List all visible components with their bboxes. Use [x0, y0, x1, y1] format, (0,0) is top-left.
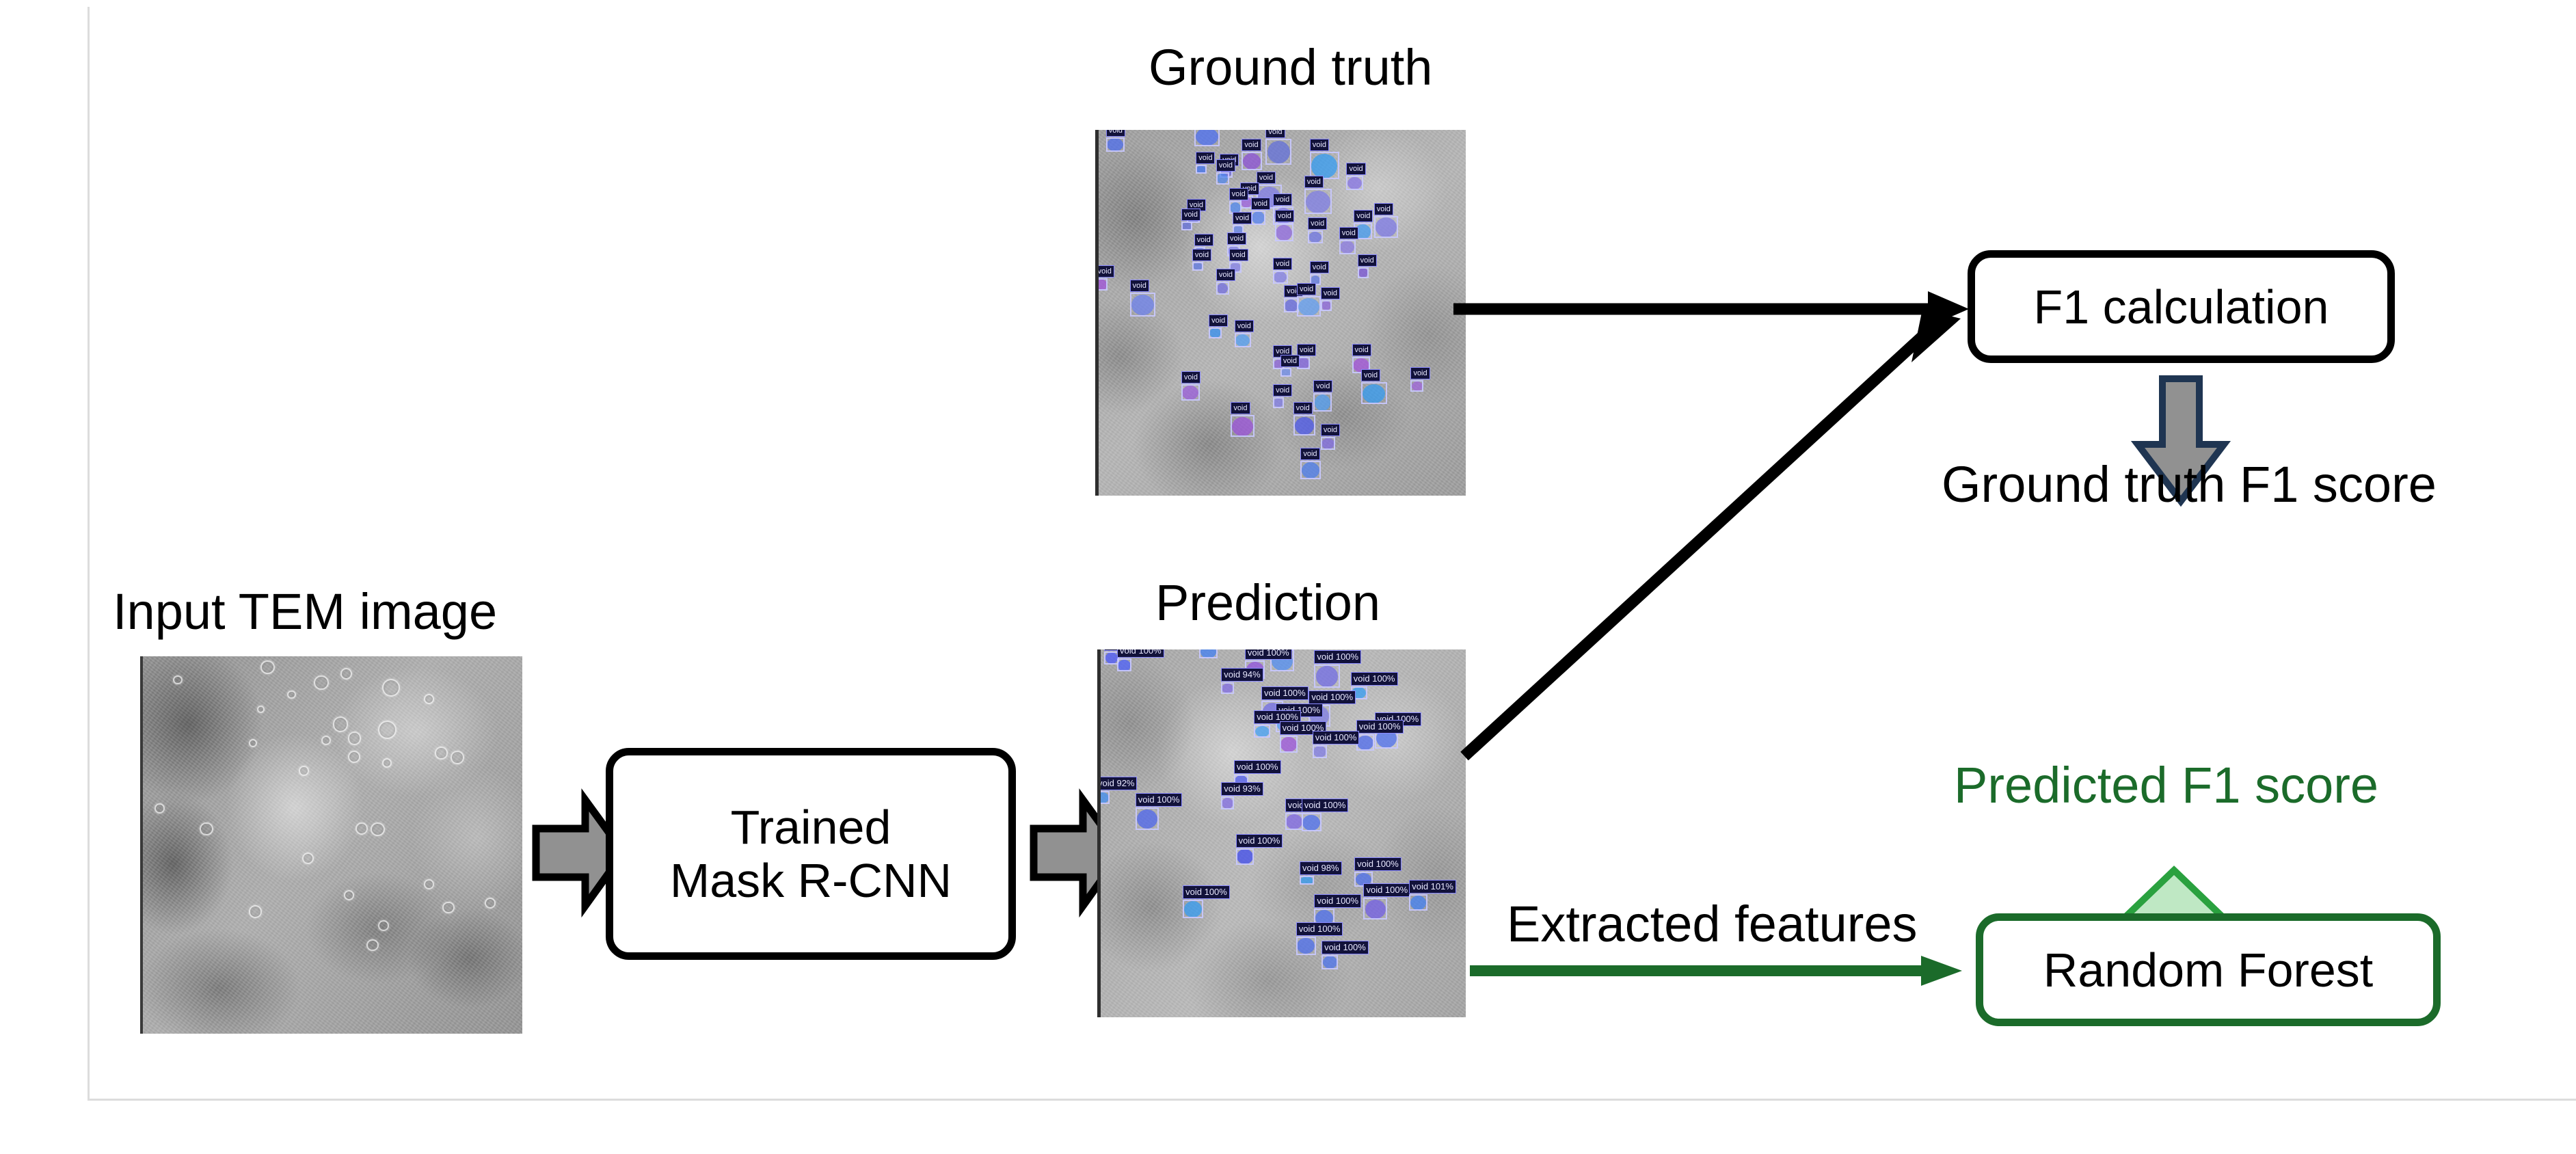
detection-label: void — [1130, 280, 1149, 292]
detection-box: void — [1192, 262, 1203, 271]
detection-label: void 100% — [1136, 793, 1183, 807]
detection-box: void 100% — [1236, 848, 1255, 865]
ground-truth-f1-score-label: Ground truth F1 score — [1942, 459, 2437, 510]
detection-box: void 100% — [1285, 813, 1304, 829]
detection-label: void — [1235, 320, 1254, 332]
input-tem-image-label: Input TEM image — [113, 587, 497, 637]
detection-label: void — [1227, 232, 1246, 245]
detection-bbox — [1235, 333, 1251, 347]
detection-label: void 98% — [1300, 861, 1341, 875]
tem-void-ring — [249, 739, 257, 747]
detection-bbox — [1265, 139, 1291, 164]
detection-label: void — [1229, 249, 1248, 261]
detection-bbox — [1117, 658, 1131, 671]
detection-box: void — [1358, 267, 1369, 278]
detection-bbox — [1346, 176, 1363, 190]
tem-void-ring — [442, 902, 454, 913]
detection-box: void — [1216, 172, 1229, 185]
detection-label: void 100% — [1314, 894, 1361, 908]
detection-label: void 100% — [1354, 857, 1401, 871]
black-arrows-group — [1449, 260, 1983, 766]
detection-label: void — [1361, 369, 1380, 381]
detection-label: void 100% — [1351, 672, 1398, 686]
detection-bbox — [1097, 791, 1110, 804]
detection-label: void — [1095, 265, 1114, 278]
detection-label: void — [1181, 371, 1200, 384]
detection-bbox — [1231, 415, 1255, 437]
tem-void-ring — [321, 736, 331, 745]
detection-bbox — [1374, 216, 1398, 238]
detection-box: void 92% — [1097, 791, 1110, 804]
detection-label: void — [1181, 209, 1200, 221]
ground-truth-detections: voidvoidvoidvoidvoidvoidvoidvoidvoidvoid… — [1099, 130, 1466, 496]
model-box-line2: Mask R-CNN — [670, 854, 952, 907]
detection-box: void — [1181, 384, 1200, 401]
detection-bbox — [1410, 380, 1423, 391]
detection-label: void — [1297, 283, 1316, 295]
detection-label: void — [1194, 234, 1213, 246]
detection-box: void — [1300, 461, 1321, 479]
detection-label: void — [1229, 188, 1248, 200]
detection-box: void — [1321, 437, 1335, 450]
detection-label: void 100% — [1183, 885, 1230, 899]
detection-box: void — [1194, 130, 1220, 146]
model-box-line1: Trained — [670, 801, 952, 854]
detection-bbox — [1095, 278, 1108, 291]
detection-box: void 93% — [1221, 796, 1234, 809]
predicted-f1-score-label: Predicted F1 score — [1954, 760, 2378, 811]
detection-bbox — [1216, 282, 1229, 295]
detection-box: void — [1196, 165, 1207, 174]
tem-void-ring — [348, 732, 362, 744]
detection-label: void — [1310, 261, 1329, 273]
detection-box: void — [1130, 293, 1156, 317]
tem-void-ring — [424, 694, 434, 704]
tem-void-ring — [378, 920, 389, 931]
detection-bbox — [1321, 300, 1332, 311]
detection-label: void — [1293, 402, 1313, 414]
detection-box: void — [1231, 415, 1255, 437]
arrow-prediction-to-random-forest — [1470, 950, 1976, 991]
tem-void-ring — [382, 679, 400, 697]
detection-label: void — [1304, 176, 1324, 188]
detection-bbox — [1196, 165, 1207, 174]
detection-box: void — [1216, 282, 1229, 295]
detection-bbox — [1280, 736, 1298, 752]
detection-label: void 100% — [1245, 649, 1292, 660]
detection-bbox — [1221, 682, 1234, 693]
detection-label: void — [1300, 448, 1319, 460]
detection-bbox — [1285, 813, 1304, 829]
detection-label: void 94% — [1221, 668, 1263, 682]
tem-void-ring — [435, 747, 447, 759]
detection-box: void — [1304, 189, 1332, 214]
detection-bbox — [1106, 137, 1125, 152]
detection-label: void — [1242, 139, 1261, 151]
detection-bbox — [1313, 745, 1327, 758]
detection-label: void — [1196, 152, 1215, 164]
detection-box: void 101% — [1409, 894, 1427, 911]
detection-bbox — [1361, 382, 1387, 404]
detection-box: void 100% — [1314, 665, 1339, 688]
detection-label: void 100% — [1356, 720, 1404, 734]
detection-label: void — [1106, 130, 1125, 137]
detection-box: void 98% — [1199, 649, 1218, 658]
tem-void-ring — [333, 716, 349, 732]
detection-label: void 100% — [1302, 799, 1349, 812]
tem-void-ring — [200, 822, 213, 835]
detection-label: void — [1321, 287, 1340, 299]
detection-box: void — [1181, 222, 1192, 230]
detection-label: void 100% — [1236, 834, 1283, 848]
prediction-panel: void 100%void 100%void 98%void 100%void … — [1097, 649, 1466, 1017]
random-forest-box[interactable]: Random Forest — [1976, 913, 2441, 1026]
detection-box: void — [1321, 300, 1332, 311]
detection-box: void 100% — [1313, 745, 1327, 758]
detection-label: void — [1297, 344, 1316, 356]
ground-truth-label: Ground truth — [1149, 42, 1432, 93]
detection-box: void — [1346, 176, 1363, 190]
ground-truth-panel: voidvoidvoidvoidvoidvoidvoidvoidvoidvoid… — [1095, 130, 1466, 496]
detection-bbox — [1236, 848, 1255, 865]
detection-bbox — [1280, 368, 1291, 377]
tem-void-ring — [155, 803, 165, 814]
detection-bbox — [1216, 172, 1229, 185]
green-arrow-head — [1921, 956, 1962, 986]
tem-void-ring — [173, 675, 183, 685]
detection-box: void 100% — [1363, 898, 1387, 920]
tem-void-ring — [485, 898, 496, 909]
tem-void-ring — [340, 668, 352, 680]
arrow-prediction-to-f1-head — [1911, 309, 1961, 362]
detection-label: void — [1280, 355, 1300, 367]
detection-bbox — [1300, 461, 1321, 479]
tem-void-ring — [260, 660, 275, 674]
detection-box: void — [1275, 223, 1293, 241]
detection-box: void 100% — [1254, 725, 1270, 738]
detection-label: void — [1257, 172, 1276, 184]
detection-label: void 100% — [1309, 690, 1356, 704]
detection-box: void — [1265, 139, 1291, 164]
detection-box: void — [1251, 211, 1265, 225]
detection-label: void 93% — [1221, 782, 1263, 796]
detection-bbox — [1275, 223, 1293, 241]
detection-bbox — [1136, 807, 1159, 829]
detection-label: void 92% — [1097, 777, 1137, 790]
detection-box: void — [1095, 278, 1108, 291]
detection-box: void — [1242, 152, 1262, 170]
detection-box: void — [1106, 137, 1125, 152]
detection-bbox — [1221, 796, 1234, 809]
detection-bbox — [1251, 211, 1265, 225]
detection-bbox — [1194, 130, 1220, 146]
f1-calculation-label: F1 calculation — [2034, 280, 2329, 334]
detection-bbox — [1273, 271, 1287, 284]
detection-label: void 101% — [1409, 880, 1456, 894]
detection-label: void — [1374, 203, 1393, 215]
detection-bbox — [1273, 397, 1284, 408]
random-forest-label: Random Forest — [2043, 943, 2373, 997]
detection-label: void — [1321, 424, 1340, 436]
detection-bbox — [1242, 152, 1262, 170]
detection-box: void — [1209, 327, 1222, 338]
detection-label: void 100% — [1117, 649, 1164, 658]
f1-calculation-box[interactable]: F1 calculation — [1968, 250, 2395, 363]
detection-bbox — [1304, 189, 1332, 214]
detection-box: void — [1339, 240, 1356, 254]
detection-bbox — [1313, 393, 1332, 412]
detection-label: void — [1313, 380, 1332, 392]
detection-bbox — [1409, 894, 1427, 911]
tem-void-ring — [344, 890, 354, 900]
detection-label: void 100% — [1261, 686, 1309, 700]
detection-label: void — [1273, 384, 1292, 397]
detection-bbox — [1293, 415, 1315, 435]
tem-void-ring — [302, 853, 314, 864]
detection-bbox — [1321, 437, 1335, 450]
detection-label: void — [1209, 314, 1228, 327]
tem-void-ring — [371, 822, 385, 836]
detection-box: void 100% — [1302, 813, 1321, 831]
detection-label: void — [1251, 198, 1270, 210]
detection-label: void 100% — [1363, 883, 1410, 897]
detection-bbox — [1254, 725, 1270, 738]
detection-label: void — [1216, 159, 1235, 172]
detection-bbox — [1300, 876, 1314, 885]
tem-void-rings — [143, 656, 522, 1034]
detection-bbox — [1183, 900, 1203, 918]
detection-label: void 100% — [1296, 922, 1343, 936]
detection-box: void 100% — [1117, 658, 1131, 671]
detection-label: void — [1310, 139, 1329, 151]
detection-bbox — [1199, 649, 1218, 658]
detection-box: void — [1273, 271, 1287, 284]
detection-box: void — [1374, 216, 1398, 238]
extracted-features-label: Extracted features — [1507, 899, 1918, 950]
arrow-prediction-to-f1-shaft — [1464, 336, 1922, 756]
detection-box: void — [1235, 333, 1251, 347]
detection-label: void 100% — [1321, 941, 1369, 954]
tem-void-ring — [451, 751, 465, 764]
tem-void-ring — [257, 706, 265, 714]
detection-bbox — [1296, 937, 1316, 955]
detection-label: void 100% — [1314, 650, 1361, 664]
detection-bbox — [1314, 665, 1339, 688]
detection-label: void 100% — [1313, 731, 1360, 744]
detection-label: void — [1231, 402, 1250, 414]
detection-label: void — [1233, 212, 1252, 224]
tem-void-ring — [287, 690, 296, 699]
detection-bbox — [1192, 262, 1203, 271]
detection-bbox — [1339, 240, 1356, 254]
tem-void-ring — [314, 675, 329, 690]
prediction-label: Prediction — [1155, 578, 1380, 628]
detection-box: void — [1293, 415, 1315, 435]
tem-void-ring — [348, 751, 360, 763]
detection-box: void — [1308, 230, 1322, 243]
detection-box: void — [1280, 368, 1291, 377]
detection-box: void 100% — [1296, 937, 1316, 955]
trained-mask-rcnn-box[interactable]: Trained Mask R-CNN — [606, 748, 1016, 960]
detection-label: void — [1410, 367, 1430, 379]
detection-bbox — [1302, 813, 1321, 831]
detection-label: void — [1308, 217, 1327, 230]
detection-label: void — [1265, 130, 1285, 138]
detection-label: void — [1192, 249, 1211, 261]
detection-bbox — [1209, 327, 1222, 338]
detection-bbox — [1181, 222, 1192, 230]
detection-label: void — [1339, 227, 1358, 239]
detection-bbox — [1321, 955, 1338, 970]
detection-box: void 100% — [1183, 900, 1203, 918]
detection-bbox — [1358, 267, 1369, 278]
tem-void-ring — [378, 721, 397, 739]
detection-bbox — [1181, 384, 1200, 401]
detection-label: void — [1216, 269, 1235, 281]
detection-box: void 100% — [1321, 955, 1338, 970]
detection-box: void 100% — [1280, 736, 1298, 752]
detection-box: void — [1361, 382, 1387, 404]
detection-box: void 98% — [1300, 876, 1314, 885]
detection-label: void 100% — [1234, 760, 1281, 774]
detection-box: void — [1297, 296, 1321, 316]
detection-box: void 94% — [1221, 682, 1234, 693]
tem-void-ring — [382, 758, 392, 768]
detection-bbox — [1130, 293, 1156, 317]
tem-void-ring — [424, 879, 434, 889]
detection-label: void — [1354, 210, 1373, 222]
detection-label: void — [1346, 163, 1365, 175]
detection-label: void — [1358, 254, 1377, 267]
detection-label: void — [1352, 344, 1371, 356]
input-tem-image-panel — [140, 656, 522, 1034]
detection-bbox — [1363, 898, 1387, 920]
detection-box: void — [1410, 380, 1423, 391]
detection-box: void — [1273, 397, 1284, 408]
tem-void-ring — [355, 822, 368, 835]
detection-bbox — [1308, 230, 1322, 243]
tem-void-ring — [366, 939, 378, 951]
tem-void-ring — [299, 766, 309, 776]
detection-box: void — [1313, 393, 1332, 412]
detection-box: void 100% — [1136, 807, 1159, 829]
detection-label: void — [1275, 210, 1294, 222]
tem-void-ring — [249, 905, 261, 917]
detection-label: void — [1273, 258, 1292, 270]
detection-bbox — [1297, 296, 1321, 316]
detection-label: void — [1273, 193, 1292, 206]
prediction-detections: void 100%void 100%void 98%void 100%void … — [1101, 649, 1466, 1017]
